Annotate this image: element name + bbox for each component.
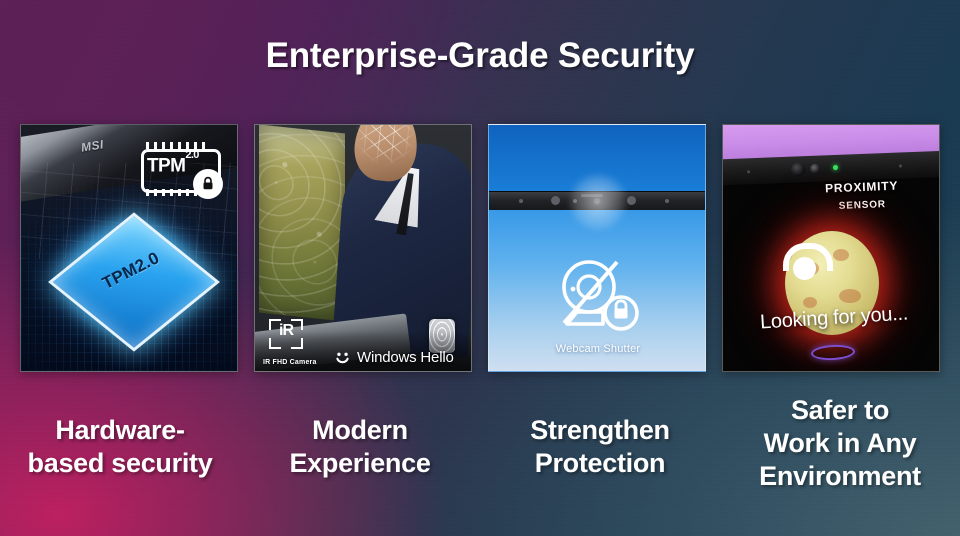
caption-strengthen-protection: Strengthen Protection bbox=[480, 388, 720, 518]
chip-pins-top bbox=[146, 142, 210, 149]
feature-image-strengthen-protection: Webcam Shutter bbox=[488, 124, 706, 372]
proximity-label-line2: SENSOR bbox=[839, 199, 886, 212]
windows-hello-smiley-icon bbox=[333, 348, 352, 367]
tpm-badge-version: 2.0 bbox=[185, 149, 199, 161]
face-recognition-mesh bbox=[348, 124, 423, 176]
feature-caption-row: Hardware- based security Modern Experien… bbox=[0, 388, 960, 518]
feature-image-safer-to-work: PROXIMITY SENSOR Looking for you... bbox=[722, 124, 940, 372]
tpm-badge: TPM2.0 bbox=[137, 141, 225, 197]
windows-hello-lockup: Windows Hello bbox=[333, 348, 454, 367]
ir-mark-text: iR bbox=[269, 322, 303, 340]
feature-image-row: MSI TPM2.0 TPM2.0 bbox=[20, 124, 940, 372]
proximity-sensor-lens bbox=[810, 164, 820, 174]
feature-image-modern-experience: 3 > ↵ enter iR IR FHD Camera bbox=[254, 124, 472, 372]
orb-eye-dot bbox=[793, 257, 816, 280]
caption-hardware-based-security: Hardware- based security bbox=[0, 388, 240, 518]
feature-image-hardware-based-security: MSI TPM2.0 TPM2.0 bbox=[20, 124, 238, 372]
webcam-halo-glow bbox=[567, 173, 629, 231]
webcam-shutter-label: Webcam Shutter bbox=[489, 343, 706, 355]
lock-icon bbox=[193, 169, 223, 199]
caption-safer-to-work: Safer to Work in Any Environment bbox=[720, 388, 960, 518]
windows-hello-label: Windows Hello bbox=[357, 349, 454, 366]
slide-canvas: Enterprise-Grade Security MSI TPM2.0 TPM… bbox=[0, 0, 960, 536]
ir-camera-bracket-icon: iR bbox=[269, 319, 303, 349]
laptop-screen-foliage bbox=[259, 124, 345, 321]
tpm-badge-main: TPM bbox=[147, 155, 185, 176]
caption-modern-experience: Modern Experience bbox=[240, 388, 480, 518]
ir-camera-label: IR FHD Camera bbox=[263, 359, 317, 366]
orb-shadow-ring bbox=[811, 344, 856, 361]
camera-lens bbox=[791, 162, 806, 177]
page-title: Enterprise-Grade Security bbox=[0, 36, 960, 76]
proximity-sensor-label: PROXIMITY SENSOR bbox=[800, 177, 923, 217]
proximity-label-line1: PROXIMITY bbox=[825, 179, 899, 196]
webcam-disabled-lock-icon bbox=[551, 257, 645, 340]
status-led bbox=[833, 165, 838, 170]
tpm-badge-text: TPM2.0 bbox=[147, 155, 199, 177]
